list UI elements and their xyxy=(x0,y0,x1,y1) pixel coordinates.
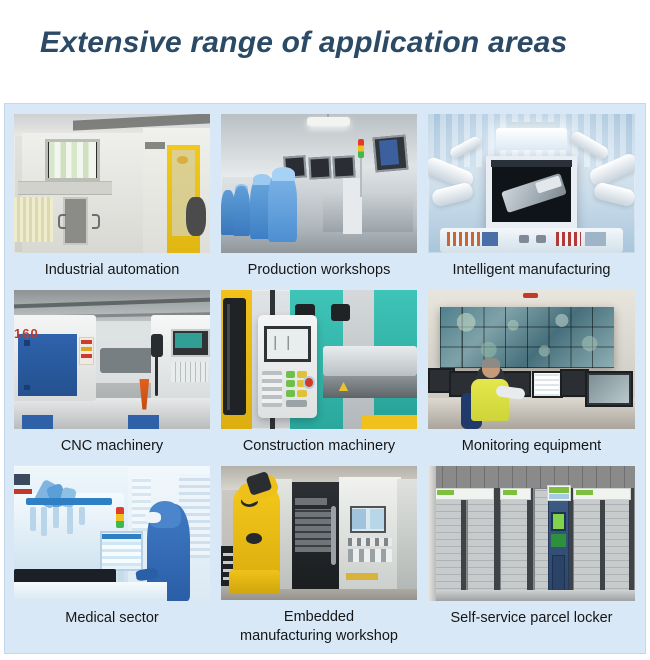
caption-embedded-manufacturing-workshop: Embedded manufacturing workshop xyxy=(221,608,417,646)
application-areas-panel: Industrial automation Production worksho… xyxy=(4,103,646,654)
gallery-item-self-service-parcel-locker[interactable]: Self-service parcel locker xyxy=(428,466,635,646)
caption-production-workshops: Production workshops xyxy=(221,261,417,280)
gallery-item-intelligent-manufacturing[interactable]: Intelligent manufacturing xyxy=(428,114,635,290)
gallery-item-industrial-automation[interactable]: Industrial automation xyxy=(14,114,210,290)
caption-industrial-automation: Industrial automation xyxy=(14,261,210,280)
application-areas-grid: Industrial automation Production worksho… xyxy=(14,114,638,646)
medical-sector-image xyxy=(14,466,210,601)
construction-machinery-image xyxy=(221,290,417,429)
caption-medical-sector: Medical sector xyxy=(14,609,210,628)
caption-cnc-machinery: CNC machinery xyxy=(14,437,210,456)
cnc-machinery-image: 160 xyxy=(14,290,210,429)
production-workshops-image xyxy=(221,114,417,253)
gallery-item-embedded-manufacturing-workshop[interactable]: Embedded manufacturing workshop xyxy=(221,466,417,646)
gallery-item-cnc-machinery[interactable]: 160 CNC machinery xyxy=(14,290,210,466)
caption-line-2: manufacturing workshop xyxy=(240,628,398,644)
cnc-machine-label: 160 xyxy=(14,326,39,341)
gallery-item-production-workshops[interactable]: Production workshops xyxy=(221,114,417,290)
page-title: Extensive range of application areas xyxy=(40,26,567,60)
gallery-item-construction-machinery[interactable]: Construction machinery xyxy=(221,290,417,466)
intelligent-manufacturing-image xyxy=(428,114,635,253)
caption-line-1: Embedded xyxy=(284,609,354,625)
embedded-manufacturing-workshop-image xyxy=(221,466,417,600)
caption-intelligent-manufacturing: Intelligent manufacturing xyxy=(428,261,635,280)
industrial-automation-image xyxy=(14,114,210,253)
monitoring-equipment-image xyxy=(428,290,635,429)
page-root: Extensive range of application areas Ind… xyxy=(0,0,650,660)
caption-self-service-parcel-locker: Self-service parcel locker xyxy=(428,609,635,628)
gallery-item-monitoring-equipment[interactable]: Monitoring equipment xyxy=(428,290,635,466)
caption-construction-machinery: Construction machinery xyxy=(221,437,417,456)
self-service-parcel-locker-image xyxy=(428,466,635,601)
caption-monitoring-equipment: Monitoring equipment xyxy=(428,437,635,456)
gallery-item-medical-sector[interactable]: Medical sector xyxy=(14,466,210,646)
